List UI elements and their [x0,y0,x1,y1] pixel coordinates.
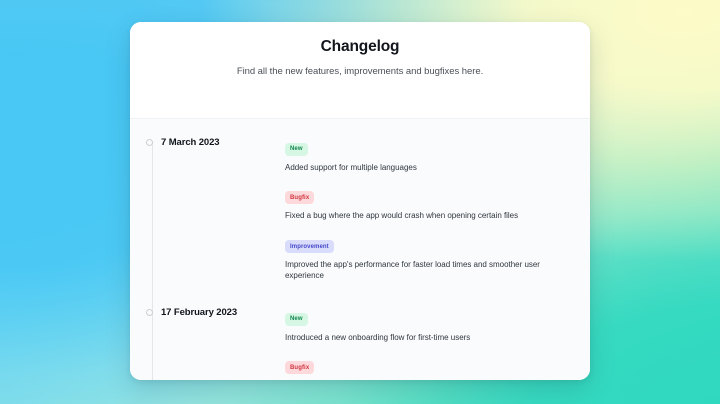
badge-new: New [285,143,308,156]
badge-improvement: Improvement [285,240,334,253]
changelog-timeline: 7 March 2023NewAdded support for multipl… [130,119,590,380]
timeline-dot-icon [146,309,153,316]
change-item: NewIntroduced a new onboarding flow for … [285,307,574,343]
entry-date: 17 February 2023 [161,307,237,318]
entry-date-column: 7 March 2023 [130,137,285,148]
changelog-entry: 7 March 2023NewAdded support for multipl… [130,137,590,281]
change-item: NewAdded support for multiple languages [285,137,574,173]
change-description: Added support for multiple languages [285,163,574,173]
change-item: BugfixAddressed an issue where user pref… [285,356,574,380]
change-item: BugfixFixed a bug where the app would cr… [285,186,574,222]
change-item: ImprovementImproved the app's performanc… [285,235,574,281]
entry-date-column: 17 February 2023 [130,307,285,318]
card-header: Changelog Find all the new features, imp… [130,22,590,118]
change-description: Introduced a new onboarding flow for fir… [285,333,574,343]
entry-date: 7 March 2023 [161,137,219,148]
changelog-card: Changelog Find all the new features, imp… [130,22,590,380]
changelog-entry: 17 February 2023NewIntroduced a new onbo… [130,307,590,380]
change-description: Fixed a bug where the app would crash wh… [285,211,574,221]
entry-items: NewIntroduced a new onboarding flow for … [285,307,574,380]
badge-bugfix: Bugfix [285,191,314,204]
page-subtitle: Find all the new features, improvements … [150,66,570,77]
timeline-dot-icon [146,139,153,146]
page-title: Changelog [150,38,570,56]
badge-bugfix: Bugfix [285,361,314,374]
entry-items: NewAdded support for multiple languagesB… [285,137,574,281]
badge-new: New [285,313,308,326]
change-description: Improved the app's performance for faste… [285,260,574,281]
card-body: 7 March 2023NewAdded support for multipl… [130,118,590,380]
